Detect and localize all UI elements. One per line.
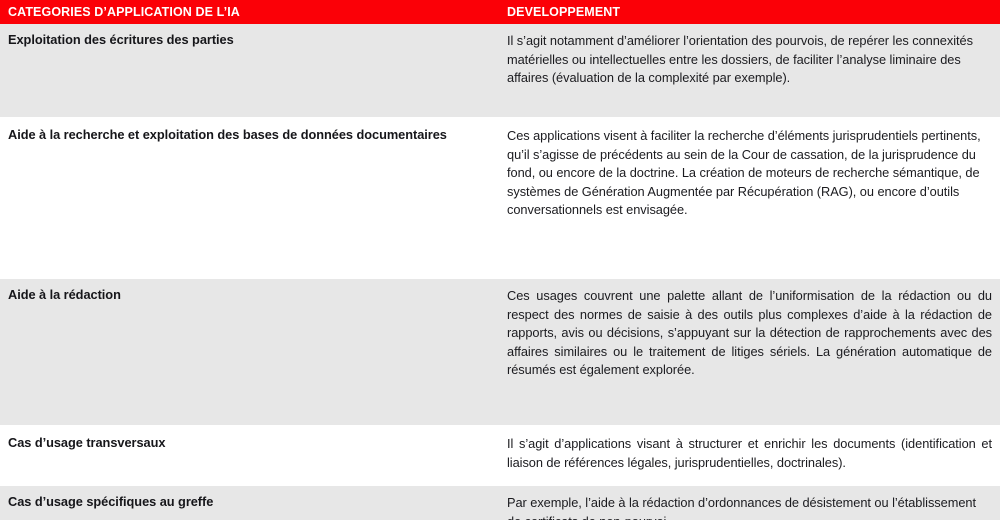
category-label: Exploitation des écritures des parties	[8, 32, 485, 49]
development-text: Par exemple, l’aide à la rédaction d’ord…	[507, 494, 992, 520]
category-label: Aide à la rédaction	[8, 287, 485, 304]
development-text: Ces usages couvrent une palette allant d…	[507, 287, 992, 380]
table-row: Exploitation des écritures des parties I…	[0, 24, 1000, 117]
development-text: Ces applications visent à faciliter la r…	[507, 127, 992, 220]
column-header-categories: CATEGORIES D’APPLICATION DE L’IA	[0, 5, 497, 19]
category-label: Aide à la recherche et exploitation des …	[8, 127, 485, 144]
development-text: Il s’agit notamment d’améliorer l’orient…	[507, 32, 992, 88]
table-row: Cas d’usage transversaux Il s’agit d’app…	[0, 427, 1000, 484]
table-row: Aide à la rédaction Ces usages couvrent …	[0, 279, 1000, 425]
cell-development: Il s’agit d’applications visant à struct…	[497, 427, 1000, 484]
cell-development: Il s’agit notamment d’améliorer l’orient…	[497, 24, 1000, 117]
table-row: Aide à la recherche et exploitation des …	[0, 119, 1000, 277]
cell-category: Exploitation des écritures des parties	[0, 24, 497, 117]
ai-application-categories-table: CATEGORIES D’APPLICATION DE L’IA DEVELOP…	[0, 0, 1000, 520]
table-body: Exploitation des écritures des parties I…	[0, 24, 1000, 520]
cell-development: Ces applications visent à faciliter la r…	[497, 119, 1000, 277]
cell-category: Aide à la rédaction	[0, 279, 497, 425]
cell-category: Cas d’usage spécifiques au greffe	[0, 486, 497, 520]
development-text: Il s’agit d’applications visant à struct…	[507, 435, 992, 472]
column-header-developpement: DEVELOPPEMENT	[497, 5, 1000, 19]
cell-development: Par exemple, l’aide à la rédaction d’ord…	[497, 486, 1000, 520]
table-row: Cas d’usage spécifiques au greffe Par ex…	[0, 486, 1000, 520]
category-label: Cas d’usage transversaux	[8, 435, 485, 452]
cell-category: Cas d’usage transversaux	[0, 427, 497, 484]
table-header-row: CATEGORIES D’APPLICATION DE L’IA DEVELOP…	[0, 0, 1000, 24]
cell-development: Ces usages couvrent une palette allant d…	[497, 279, 1000, 425]
category-label: Cas d’usage spécifiques au greffe	[8, 494, 485, 511]
cell-category: Aide à la recherche et exploitation des …	[0, 119, 497, 277]
